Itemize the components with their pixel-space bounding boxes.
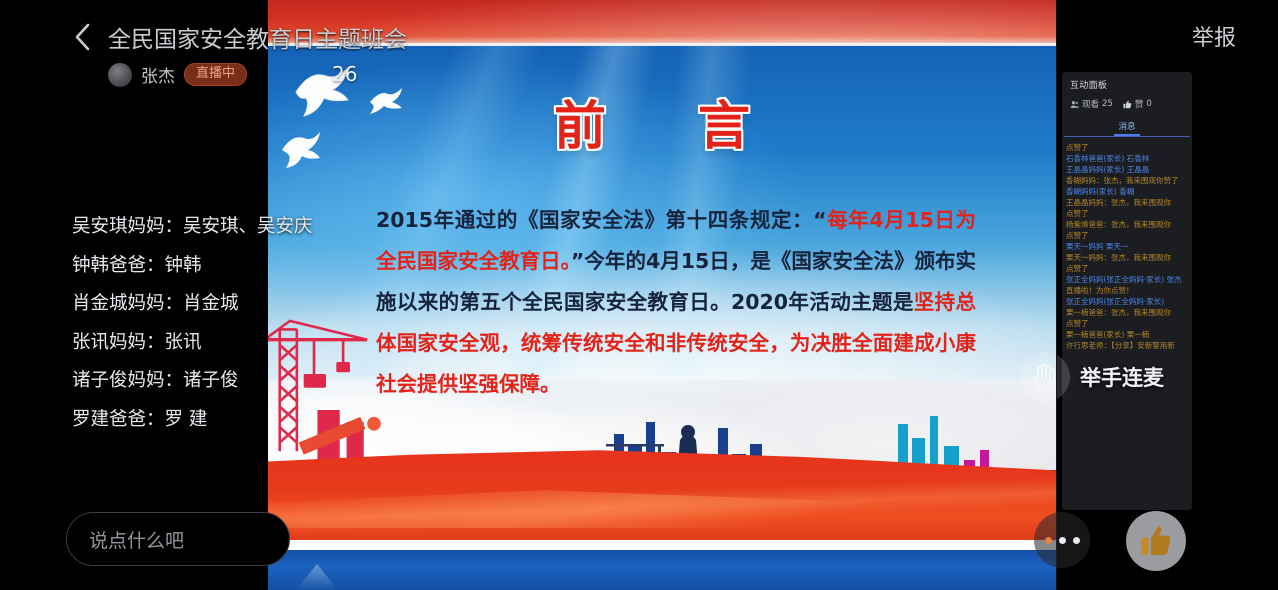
live-status-badge: 直播中 [184,63,247,85]
raise-hand-circle [1020,352,1070,402]
raise-hand-button[interactable]: 举手连麦 [1020,352,1196,402]
chat-message: 钟韩爸爸：钟韩 [72,257,332,276]
panel-message: 栗一楠爸爸(家长) 栗一楠 [1066,329,1188,340]
floating-chat-stream: 吴安琪妈妈：吴安琪、吴安庆 钟韩爸爸：钟韩 肖金城妈妈：肖金城 张讯妈妈：张讯 … [72,218,332,449]
panel-divider [1056,0,1057,590]
slide-body-text: 2015年通过的《国家安全法》第十四条规定：“每年4月15日为全民国家安全教育日… [376,200,976,405]
more-options-button[interactable] [1034,512,1090,568]
interaction-panel-title: 互动面板 [1062,72,1192,96]
like-button[interactable] [1126,511,1186,571]
panel-message: 香糊妈妈：张杰，我来围观你赞了 [1066,175,1188,186]
host-avatar[interactable] [108,63,132,87]
raise-hand-label: 举手连麦 [1080,362,1164,392]
interaction-panel: 互动面板 观看 25 赞 [1062,72,1192,510]
panel-message: 点赞了 [1066,230,1188,241]
chat-message: 肖金城妈妈：肖金城 [72,295,332,314]
host-info[interactable]: 张杰 直播中 [108,62,247,87]
panel-message: 张正全妈妈(张正全妈妈·家长) 张杰 [1066,274,1188,285]
panel-message: 张正全妈妈(张正全妈妈·家长) [1066,296,1188,307]
panel-message: 王晶晶妈妈(家长) 王晶晶 [1066,164,1188,175]
ellipsis-icon [1073,537,1080,544]
panel-message: 石香林爸爸(家长) 石香林 [1066,153,1188,164]
like-label: 赞 [1135,98,1144,110]
panel-message: 香糊妈妈(家长) 香糊 [1066,186,1188,197]
report-button[interactable]: 举报 [1192,20,1236,52]
people-icon [1070,100,1079,109]
viewer-count: 25 [1102,99,1113,109]
page-title: 全民国家安全教育日主题班会 [108,20,407,54]
panel-message: 杨紫烯爸爸：张杰，我来围观你 [1066,219,1188,230]
panel-message: 直播啦！为你点赞！ [1066,285,1188,296]
viewer-stat: 观看 25 [1070,98,1113,110]
chevron-left-icon [73,22,93,52]
chat-message: 罗建爸爸：罗 建 [72,411,332,430]
like-count: 0 [1146,99,1151,109]
panel-tabs: 消息 [1062,116,1192,136]
panel-message: 栗天一妈妈：张杰，我来围观你 [1066,252,1188,263]
host-name: 张杰 [141,62,175,87]
panel-message-list[interactable]: 点赞了 石香林爸爸(家长) 石香林 王晶晶妈妈(家长) 王晶晶 香糊妈妈：张杰，… [1062,142,1192,351]
comment-input[interactable]: 说点什么吧 [66,512,290,566]
chat-message: 吴安琪妈妈：吴安琪、吴安庆 [72,218,332,237]
tab-messages[interactable]: 消息 [1112,118,1141,136]
right-panel-column: 互动面板 观看 25 赞 [1056,0,1278,590]
video-viewer-count: 26 [332,62,357,86]
panel-message: 点赞了 [1066,318,1188,329]
tab-underline [1064,136,1190,137]
live-class-player-screen: 26 前 言 2015年通过的《国家安全法》第十四条规定：“每年4月15日为全民… [0,0,1278,590]
chat-message: 诸子俊妈妈：诸子俊 [72,372,332,391]
slide-white-divider [268,540,1056,550]
panel-message: 点赞了 [1066,142,1188,153]
back-button[interactable] [66,20,100,54]
slide-title: 前 言 [268,84,1056,159]
panel-message: 栗一楠爸爸：张杰，我来围观你 [1066,307,1188,318]
thumbs-up-icon [1139,524,1173,558]
like-stat: 赞 0 [1123,98,1152,110]
interaction-panel-stats: 观看 25 赞 0 [1062,96,1192,116]
thumbs-up-icon [1123,100,1132,109]
panel-message: 栗天一妈妈 栗天一 [1066,241,1188,252]
panel-message: 点赞了 [1066,263,1188,274]
viewer-label: 观看 [1082,98,1099,110]
panel-message: 王晶晶妈妈：张杰，我来围观你 [1066,197,1188,208]
video-stage[interactable]: 26 前 言 2015年通过的《国家安全法》第十四条规定：“每年4月15日为全民… [268,0,1056,590]
ellipsis-icon [1045,537,1052,544]
chat-message: 张讯妈妈：张讯 [72,334,332,353]
slide-text-plain-1: 2015年通过的《国家安全法》第十四条规定：“ [376,208,827,232]
panel-message: 许行思老师：【分享】安新警用新 [1066,340,1188,351]
comment-input-placeholder: 说点什么吧 [89,526,184,553]
ellipsis-icon [1059,537,1066,544]
slide-bottom-blue-bar [268,550,1056,590]
panel-message: 点赞了 [1066,208,1188,219]
